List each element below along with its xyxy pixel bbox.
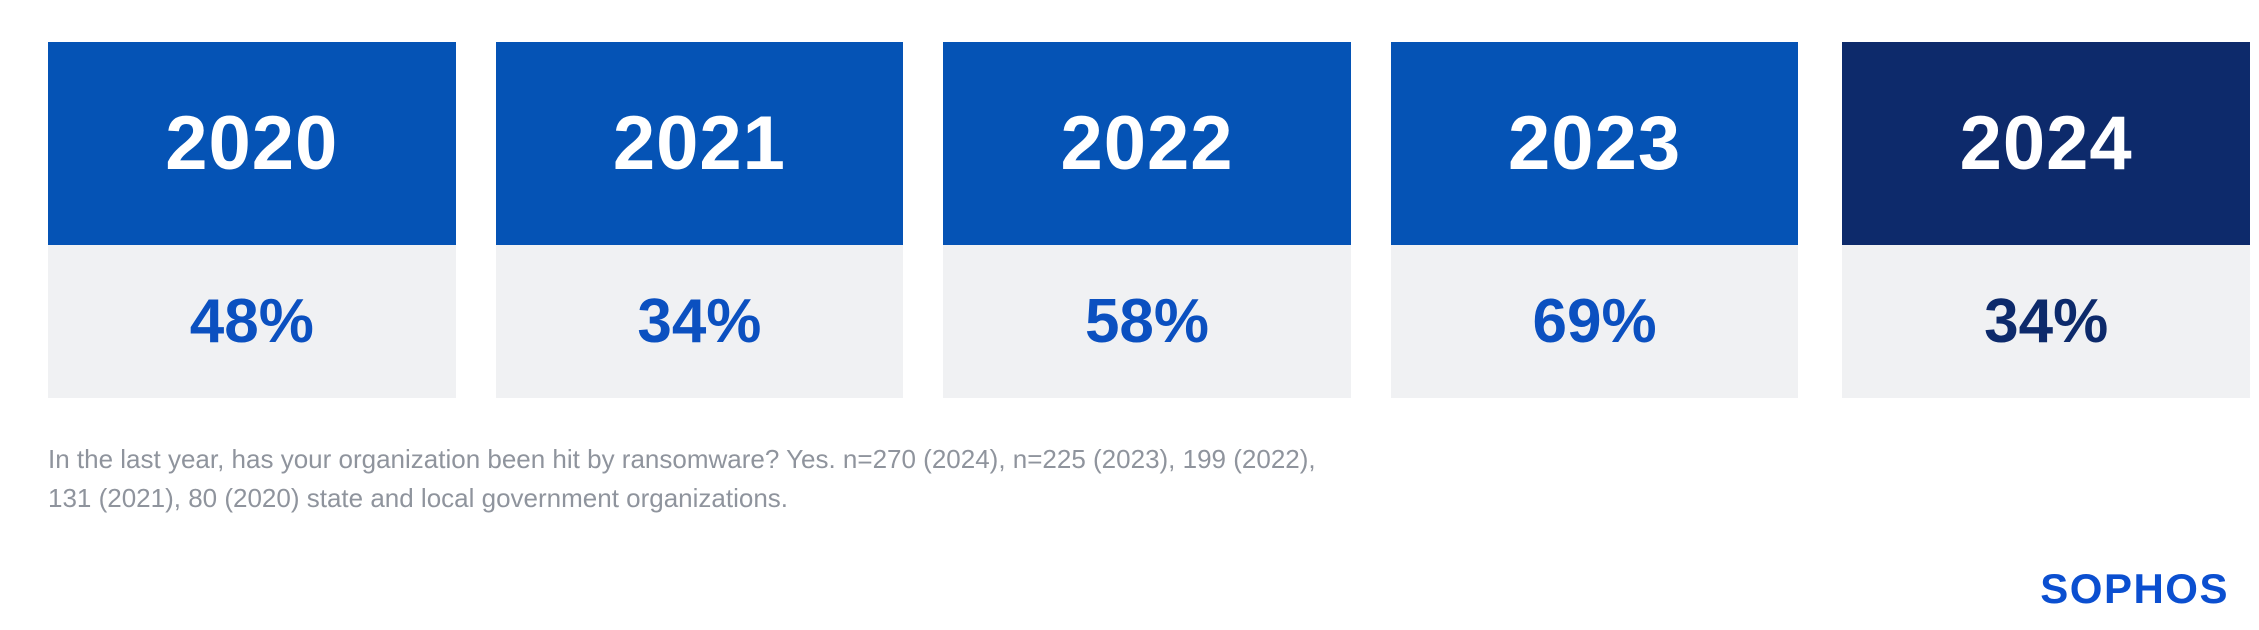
column-gap-2-top <box>903 42 943 245</box>
column-gap-2 <box>903 42 943 398</box>
year-header-2022: 2022 <box>943 42 1351 245</box>
year-column-2024[interactable]: 2024 34% <box>1842 42 2250 398</box>
percent-cell-2024: 34% <box>1842 245 2250 398</box>
percent-cell-2022: 58% <box>943 245 1351 398</box>
chart-caption: In the last year, has your organization … <box>48 440 1748 518</box>
year-column-2021[interactable]: 2021 34% <box>496 42 904 398</box>
year-label-2020: 2020 <box>165 106 338 182</box>
caption-line-2: 131 (2021), 80 (2020) state and local go… <box>48 479 1748 518</box>
year-columns-row: 2020 48% 2021 34% 2022 <box>48 42 2250 398</box>
percent-label-2020: 48% <box>190 291 314 353</box>
year-column-2020[interactable]: 2020 48% <box>48 42 456 398</box>
year-header-2020: 2020 <box>48 42 456 245</box>
percent-label-2023: 69% <box>1533 291 1657 353</box>
column-gap-4-top <box>1798 42 1842 245</box>
column-gap-1 <box>456 42 496 398</box>
column-gap-1-bottom <box>456 245 496 398</box>
ransomware-year-comparison-infographic: 2020 48% 2021 34% 2022 <box>0 0 2259 630</box>
column-gap-3-top <box>1351 42 1391 245</box>
percent-label-2024: 34% <box>1984 291 2108 353</box>
column-gap-3-bottom <box>1351 245 1391 398</box>
column-gap-3 <box>1351 42 1391 398</box>
column-gap-4 <box>1798 42 1842 398</box>
caption-line-1: In the last year, has your organization … <box>48 440 1748 479</box>
percent-cell-2020: 48% <box>48 245 456 398</box>
percent-cell-2023: 69% <box>1391 245 1799 398</box>
year-label-2023: 2023 <box>1508 106 1681 182</box>
year-header-2021: 2021 <box>496 42 904 245</box>
column-gap-4-bottom <box>1798 245 1842 398</box>
year-label-2021: 2021 <box>613 106 786 182</box>
percent-label-2022: 58% <box>1085 291 1209 353</box>
column-gap-2-bottom <box>903 245 943 398</box>
sophos-logo: SOPHOS <box>2040 568 2229 610</box>
year-label-2022: 2022 <box>1060 106 1233 182</box>
percent-cell-2021: 34% <box>496 245 904 398</box>
year-label-2024: 2024 <box>1960 106 2133 182</box>
column-gap-1-top <box>456 42 496 245</box>
year-column-2023[interactable]: 2023 69% <box>1391 42 1799 398</box>
year-header-2024: 2024 <box>1842 42 2250 245</box>
percent-label-2021: 34% <box>637 291 761 353</box>
year-header-2023: 2023 <box>1391 42 1799 245</box>
year-column-2022[interactable]: 2022 58% <box>943 42 1351 398</box>
